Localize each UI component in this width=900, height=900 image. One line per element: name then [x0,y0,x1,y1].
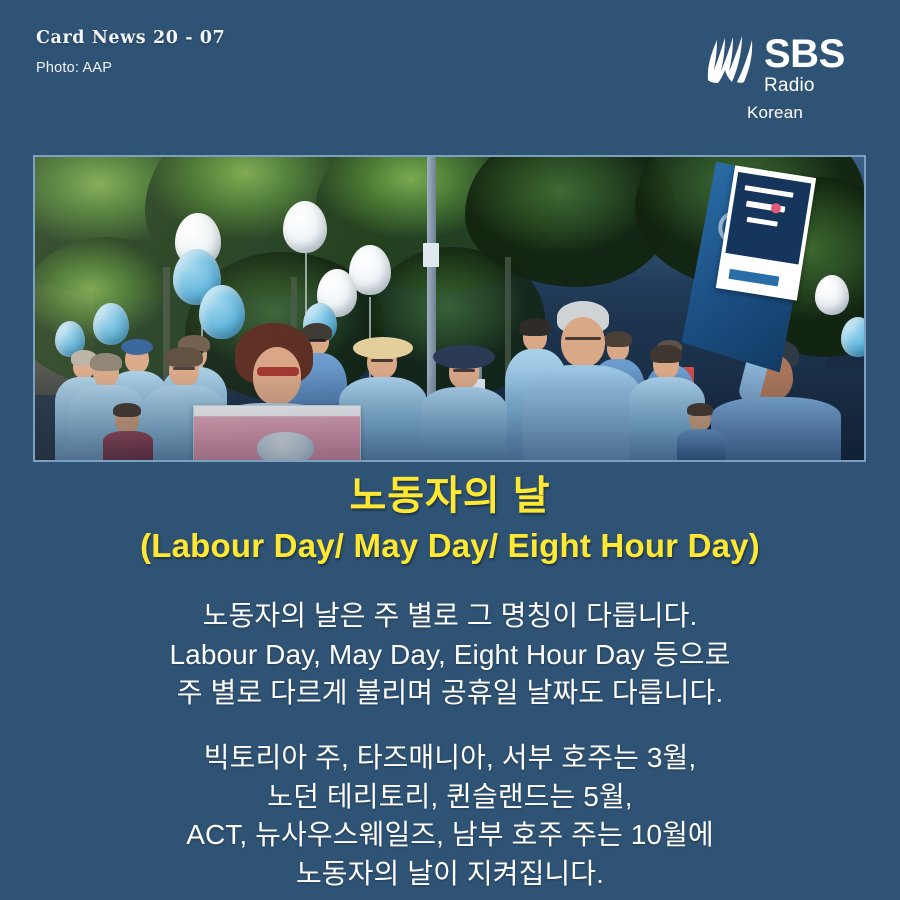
body-paragraph-1: 노동자의 날은 주 별로 그 명칭이 다릅니다. Labour Day, May… [0,597,900,713]
body-line: 주 별로 다르게 불리며 공휴일 날짜도 다릅니다. [0,674,900,713]
page-title-korean: 노동자의 날 [0,473,900,520]
photo-balloon [93,303,129,345]
sbs-wordmark: SBS Radio [764,32,845,95]
sbs-logo-row: SBS Radio [704,32,864,94]
photo-placard-line [744,185,793,198]
photo-placard-panel [725,172,811,264]
hero-photo [33,155,866,462]
photo-credit-label: Photo: AAP [36,60,456,76]
body-line: 빅토리아 주, 타즈매니아, 서부 호주는 3월, [0,739,900,778]
sbs-subbrand-text: Radio [764,76,845,95]
title-block: 노동자의 날 (Labour Day/ May Day/ Eight Hour … [0,473,900,566]
card-news-slide: Card News 20 - 07 Photo: AAP SBS Radio K… [0,0,900,900]
body-line: 노동자의 날이 지켜집니다. [0,855,900,894]
body-line: 노동자의 날은 주 별로 그 명칭이 다릅니다. [0,597,900,636]
photo-foreground-shadow [35,369,864,460]
photo-placard-line [747,217,778,227]
photo-hat [353,337,413,359]
sbs-language-label: Korean [704,103,864,123]
body-paragraph-2: 빅토리아 주, 타즈매니아, 서부 호주는 3월, 노던 테리토리, 퀸슬랜드는… [0,739,900,894]
sbs-brand-text: SBS [764,34,845,74]
photo-illustration [35,157,864,460]
sbs-logo-block: SBS Radio Korean [704,32,864,123]
photo-placard-heart-icon [771,202,782,214]
photo-street-sign [423,243,439,267]
page-title-english: (Labour Day/ May Day/ Eight Hour Day) [0,526,900,566]
photo-placard-footer [729,269,779,286]
body-block: 노동자의 날은 주 별로 그 명칭이 다릅니다. Labour Day, May… [0,597,900,893]
photo-balloon [283,201,327,253]
sbs-flame-icon [704,34,760,84]
body-line: Labour Day, May Day, Eight Hour Day 등으로 [0,636,900,675]
card-news-label: Card News 20 - 07 [36,28,456,48]
body-line: 노던 테리토리, 퀸슬랜드는 5월, [0,778,900,817]
header-left: Card News 20 - 07 Photo: AAP [36,28,456,76]
body-line: ACT, 뉴사우스웨일즈, 남부 호주 주는 10월에 [0,816,900,855]
photo-balloon [815,275,849,315]
photo-hat [433,345,495,369]
